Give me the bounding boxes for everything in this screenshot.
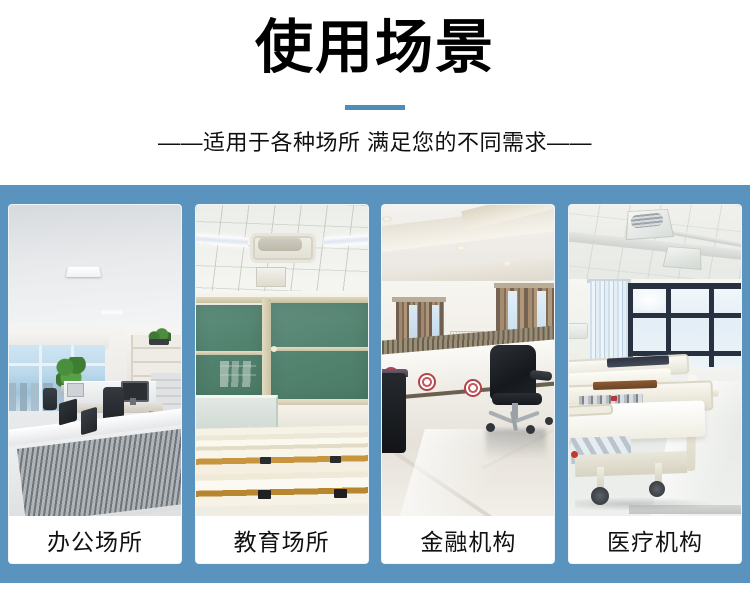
window-mullion xyxy=(709,283,714,371)
scene-label-office: 办公场所 xyxy=(9,516,181,563)
chalkboard-knob xyxy=(271,346,277,352)
chalkboard-divider xyxy=(262,299,271,407)
curtain-valance xyxy=(494,283,554,288)
scene-card-list: 办公场所 xyxy=(0,205,750,563)
chair-floor-reflection xyxy=(486,429,546,459)
monitor-icon xyxy=(67,383,84,397)
title-underline-rule xyxy=(345,105,405,110)
planter-box xyxy=(149,339,169,345)
curtain-gap xyxy=(432,305,439,339)
page-header: 使用场景 ——适用于各种场所 满足您的不同需求—— xyxy=(0,0,750,185)
scene-label-education: 教育场所 xyxy=(196,516,368,563)
bed-release-lever-icon xyxy=(611,396,617,401)
ceiling-vent-inner xyxy=(258,238,302,251)
desk-fitting xyxy=(334,489,347,498)
projector-screen-housing xyxy=(256,267,286,287)
chalk-writing xyxy=(220,361,256,387)
bed-caster-icon xyxy=(591,487,609,505)
student-desks xyxy=(196,425,368,516)
hospital-ward-photo xyxy=(569,205,741,516)
chalkboard-rail xyxy=(196,351,264,355)
wall-mounted-unit xyxy=(569,323,588,339)
classroom-photo xyxy=(196,205,368,516)
scene-card-medical[interactable]: 医疗机构 xyxy=(569,205,741,563)
hospital-bed-underframe xyxy=(575,451,688,477)
promo-page: 使用场景 ——适用于各种场所 满足您的不同需求—— xyxy=(0,0,750,595)
scene-card-office[interactable]: 办公场所 xyxy=(9,205,181,563)
scene-label-medical: 医疗机构 xyxy=(569,516,741,563)
chalkboard-right xyxy=(270,303,368,403)
monitor-stand xyxy=(130,398,136,405)
bank-hall-photo xyxy=(382,205,554,516)
led-panel-light-icon xyxy=(66,267,101,277)
laptop-icon xyxy=(81,407,97,436)
air-vent-icon xyxy=(662,246,701,270)
window-mullion xyxy=(39,345,42,419)
desk-fitting xyxy=(330,456,341,463)
page-subtitle: ——适用于各种场所 满足您的不同需求—— xyxy=(0,128,750,158)
scene-label-finance: 金融机构 xyxy=(382,516,554,563)
window-glare xyxy=(633,289,665,311)
curtain-gap xyxy=(409,305,417,339)
chalkboard-rail xyxy=(270,347,368,351)
scene-card-education[interactable]: 教育场所 xyxy=(196,205,368,563)
desk-fitting xyxy=(258,490,271,499)
curtain-valance xyxy=(392,297,446,302)
page-title: 使用场景 xyxy=(0,14,750,82)
bed-control-button-icon xyxy=(571,451,578,458)
window-mullion xyxy=(627,313,741,318)
window-mullion xyxy=(627,283,741,289)
desk-fitting xyxy=(260,457,271,464)
side-cabinet xyxy=(382,373,406,453)
office-chair-icon xyxy=(43,388,57,410)
led-panel-light-secondary-icon xyxy=(100,310,123,314)
scene-card-finance[interactable]: 金融机构 xyxy=(382,205,554,563)
bed-caster-icon xyxy=(649,481,665,497)
office-workspace-photo xyxy=(9,205,181,516)
